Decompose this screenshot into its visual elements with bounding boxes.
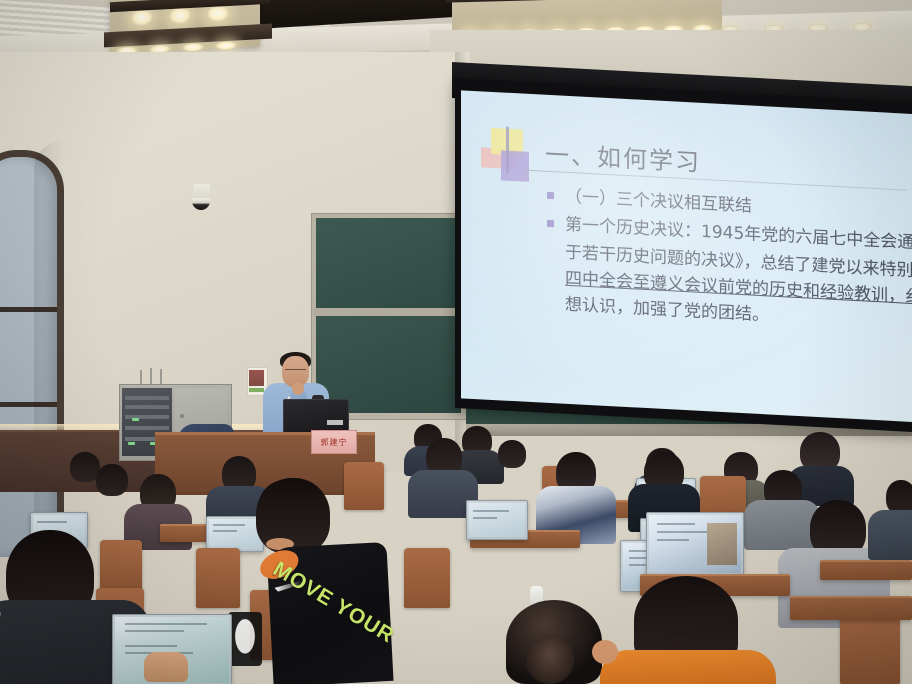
screen-glare bbox=[461, 90, 912, 422]
student-head bbox=[498, 440, 526, 468]
projection-screen-frame: 一、如何学习 （一）三个决议相互联结 第一个历史决议：1945年党的六届七中全会… bbox=[455, 78, 912, 432]
jacket-slogan-text: MOVE YOUR bbox=[269, 557, 399, 648]
chair-back bbox=[196, 548, 240, 608]
student-torso bbox=[744, 500, 820, 550]
student-torso bbox=[868, 510, 912, 560]
lecturer-glasses bbox=[285, 369, 306, 374]
wall-sign-body bbox=[249, 370, 264, 386]
student-laptop bbox=[466, 500, 528, 540]
downlight-icon bbox=[182, 42, 204, 52]
chalkboard-panel-upper bbox=[316, 218, 461, 310]
student-shirt-orange bbox=[600, 650, 776, 684]
wall-sign-strip bbox=[249, 388, 264, 392]
lectern-front-panel bbox=[160, 448, 365, 492]
student-hair-bun bbox=[526, 636, 574, 684]
jacket-logo-glyph bbox=[228, 612, 262, 666]
chair-back bbox=[840, 610, 900, 684]
downlight-icon bbox=[215, 41, 237, 51]
projected-slide: 一、如何学习 （一）三个决议相互联结 第一个历史决议：1945年党的六届七中全会… bbox=[461, 90, 912, 422]
nameplate-text: 郭建宁 bbox=[312, 431, 356, 453]
desk bbox=[820, 560, 912, 580]
lecture-hall-photo: 一、如何学习 （一）三个决议相互联结 第一个历史决议：1945年党的六届七中全会… bbox=[0, 0, 912, 684]
student-hand bbox=[144, 652, 188, 682]
student-head bbox=[886, 480, 912, 514]
student-laptop bbox=[646, 512, 744, 576]
speaker-nameplate: 郭建宁 bbox=[311, 430, 357, 454]
student-head bbox=[96, 464, 128, 496]
student-ear bbox=[592, 640, 618, 664]
desk bbox=[790, 596, 912, 620]
jacket-stripe bbox=[0, 610, 1, 684]
podium-device-label bbox=[327, 420, 343, 425]
chair-back bbox=[344, 462, 384, 510]
cabinet-handle bbox=[180, 414, 184, 418]
lecturer-hand bbox=[292, 382, 304, 395]
student-jacket-black: MOVE YOUR NG CITY bbox=[266, 542, 393, 684]
chair-back bbox=[404, 548, 450, 608]
chalkboard-divider bbox=[313, 308, 464, 316]
